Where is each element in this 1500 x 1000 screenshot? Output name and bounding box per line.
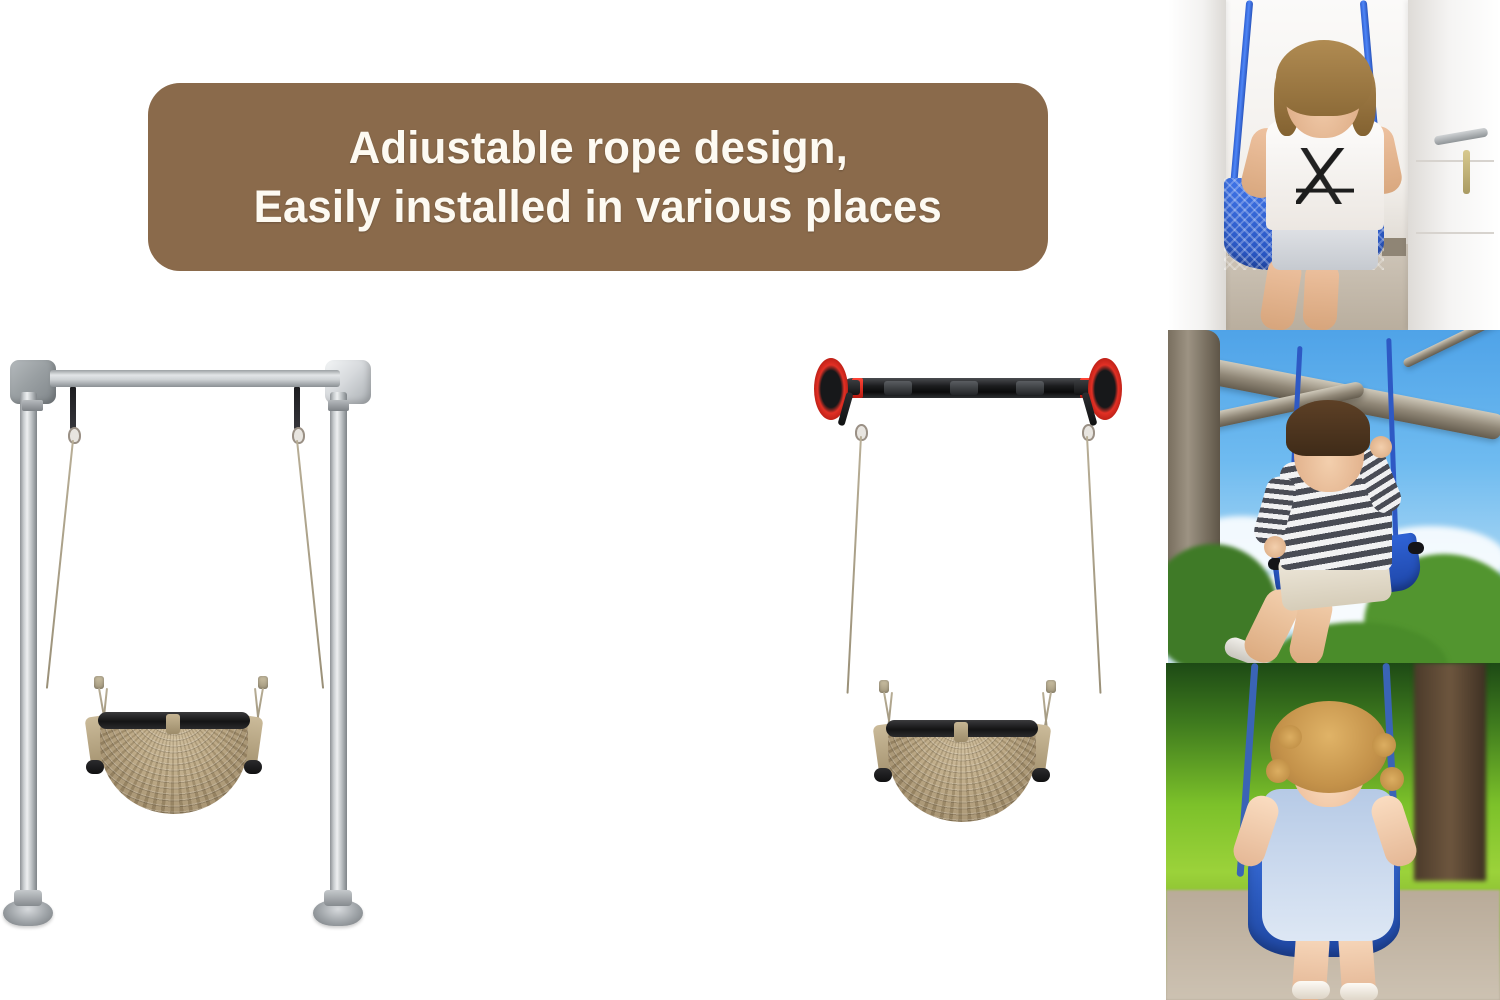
frame-collar-left	[22, 400, 43, 411]
lifestyle-photo-column	[1148, 0, 1500, 1000]
carabiner-left	[68, 427, 81, 444]
frame-post-left	[20, 392, 37, 912]
photo1-keys	[1463, 150, 1470, 194]
photo2-seat-cap-right	[1408, 542, 1424, 554]
photo3-curl-1	[1266, 759, 1290, 783]
frame-post-right	[330, 392, 347, 912]
photo3-shoe-right	[1340, 983, 1378, 1000]
carabiner-right	[292, 427, 305, 444]
frame-foot-cap-left	[14, 890, 42, 906]
hanging-strap-right	[294, 387, 300, 429]
photo3-curl-4	[1380, 767, 1404, 791]
photo2-hand-left	[1264, 536, 1286, 558]
product-feature-image: Adiustable rope design, Easily installed…	[0, 0, 1500, 1000]
photo3-shoe-left	[1292, 981, 1330, 999]
photo1-baseboard-right	[1382, 238, 1406, 256]
hanging-strap-left	[70, 387, 76, 429]
suspension-rope-right	[296, 440, 325, 689]
photo-tree-boy	[1168, 330, 1500, 663]
photo-doorway-girl	[1168, 0, 1500, 330]
frame-collar-right	[328, 400, 349, 411]
photo2-tree-trunk	[1168, 330, 1220, 570]
photo1-door-right	[1408, 0, 1500, 330]
photo1-door-frame-left	[1168, 0, 1226, 330]
photo3-curl-3	[1372, 733, 1396, 757]
photo2-hair	[1286, 400, 1370, 456]
panel-swing-stand	[0, 0, 390, 1000]
panel-doorway-bar	[390, 0, 750, 1000]
photo1-shirt-print	[1296, 148, 1354, 204]
suspension-rope-left	[46, 440, 75, 689]
frame-foot-cap-right	[324, 890, 352, 906]
photo1-hair	[1276, 40, 1372, 116]
photo3-curl-2	[1278, 725, 1302, 749]
photo1-leg-right	[1302, 261, 1340, 330]
seat-end-cap-left	[86, 760, 104, 774]
photo3-tree-trunk	[1414, 663, 1486, 881]
panel-tree-branch	[750, 0, 1150, 1000]
seat-end-cap-right	[244, 760, 262, 774]
photo1-door-panel-line-1	[1416, 160, 1494, 162]
seat-weave-texture	[100, 722, 248, 814]
frame-crossbar	[50, 370, 340, 387]
photo-garden-toddler	[1166, 663, 1500, 1000]
swing-seat-1	[86, 712, 262, 822]
seat-center-tab	[166, 714, 180, 734]
photo1-door-panel-line-2	[1416, 232, 1494, 234]
seat-woven-body	[100, 722, 248, 814]
photo2-hand-right	[1370, 436, 1392, 458]
